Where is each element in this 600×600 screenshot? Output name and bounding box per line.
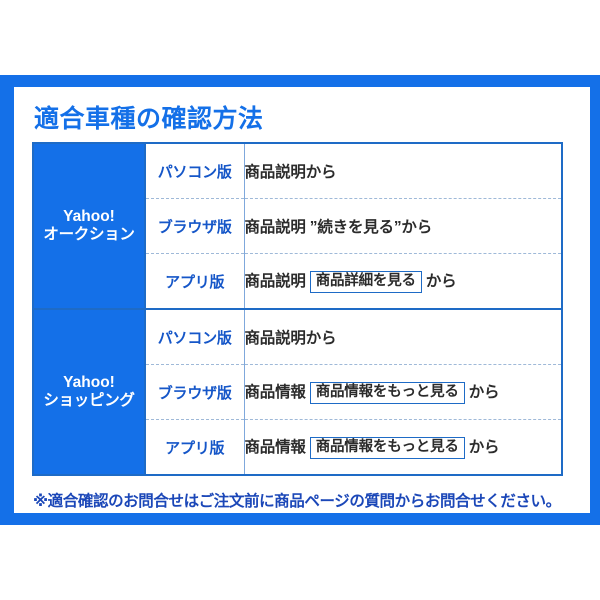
brand-cell-shopping: Yahoo! ショッピング bbox=[33, 309, 145, 475]
platform-label: ブラウザ版 bbox=[145, 365, 244, 420]
description-text-pre: 商品説明 ”続きを見る”から bbox=[245, 219, 433, 236]
description-cell: 商品説明 ”続きを見る”から bbox=[244, 199, 562, 254]
platform-label: パソコン版 bbox=[145, 309, 244, 365]
description-cell: 商品情報商品情報をもっと見るから bbox=[244, 420, 562, 476]
brand-cell-auction: Yahoo! オークション bbox=[33, 143, 145, 309]
table-row: Yahoo! オークション パソコン版 商品説明から bbox=[33, 143, 562, 199]
description-cell: 商品説明商品詳細を見るから bbox=[244, 254, 562, 310]
description-text-post: から bbox=[426, 273, 457, 290]
platform-label: アプリ版 bbox=[145, 254, 244, 310]
description-text-post: から bbox=[469, 384, 500, 401]
description-text-post: から bbox=[469, 439, 500, 456]
description-text-pre: 商品説明から bbox=[245, 164, 337, 181]
description-text-pre: 商品情報 bbox=[245, 384, 306, 401]
boxed-button-label[interactable]: 商品情報をもっと見る bbox=[310, 382, 465, 404]
compatibility-table: Yahoo! オークション パソコン版 商品説明から ブラウザ版 商品説明 ”続… bbox=[32, 142, 563, 476]
footer-note: ※適合確認のお問合せはご注文前に商品ページの質問からお問合せください。 bbox=[33, 489, 574, 511]
table-row: Yahoo! ショッピング パソコン版 商品説明から bbox=[33, 309, 562, 365]
platform-label: ブラウザ版 bbox=[145, 199, 244, 254]
white-panel: 適合車種の確認方法 Yahoo! オークション パソコン版 bbox=[14, 87, 590, 513]
description-text-pre: 商品説明 bbox=[245, 273, 306, 290]
description-text-pre: 商品説明から bbox=[245, 330, 337, 347]
page-title: 適合車種の確認方法 bbox=[34, 107, 574, 132]
description-cell: 商品説明から bbox=[244, 309, 562, 365]
boxed-button-label[interactable]: 商品情報をもっと見る bbox=[310, 437, 465, 459]
brand-name-line1: Yahoo! bbox=[34, 208, 144, 226]
page-root: 適合車種の確認方法 Yahoo! オークション パソコン版 bbox=[0, 0, 600, 600]
brand-name-line1: Yahoo! bbox=[34, 374, 144, 392]
platform-label: アプリ版 bbox=[145, 420, 244, 476]
boxed-button-label[interactable]: 商品詳細を見る bbox=[310, 271, 422, 293]
blue-banner-frame: 適合車種の確認方法 Yahoo! オークション パソコン版 bbox=[0, 75, 600, 525]
platform-label: パソコン版 bbox=[145, 143, 244, 199]
brand-name-line2: ショッピング bbox=[34, 392, 144, 410]
description-text-pre: 商品情報 bbox=[245, 439, 306, 456]
description-cell: 商品情報商品情報をもっと見るから bbox=[244, 365, 562, 420]
brand-name-line2: オークション bbox=[34, 226, 144, 244]
description-cell: 商品説明から bbox=[244, 143, 562, 199]
